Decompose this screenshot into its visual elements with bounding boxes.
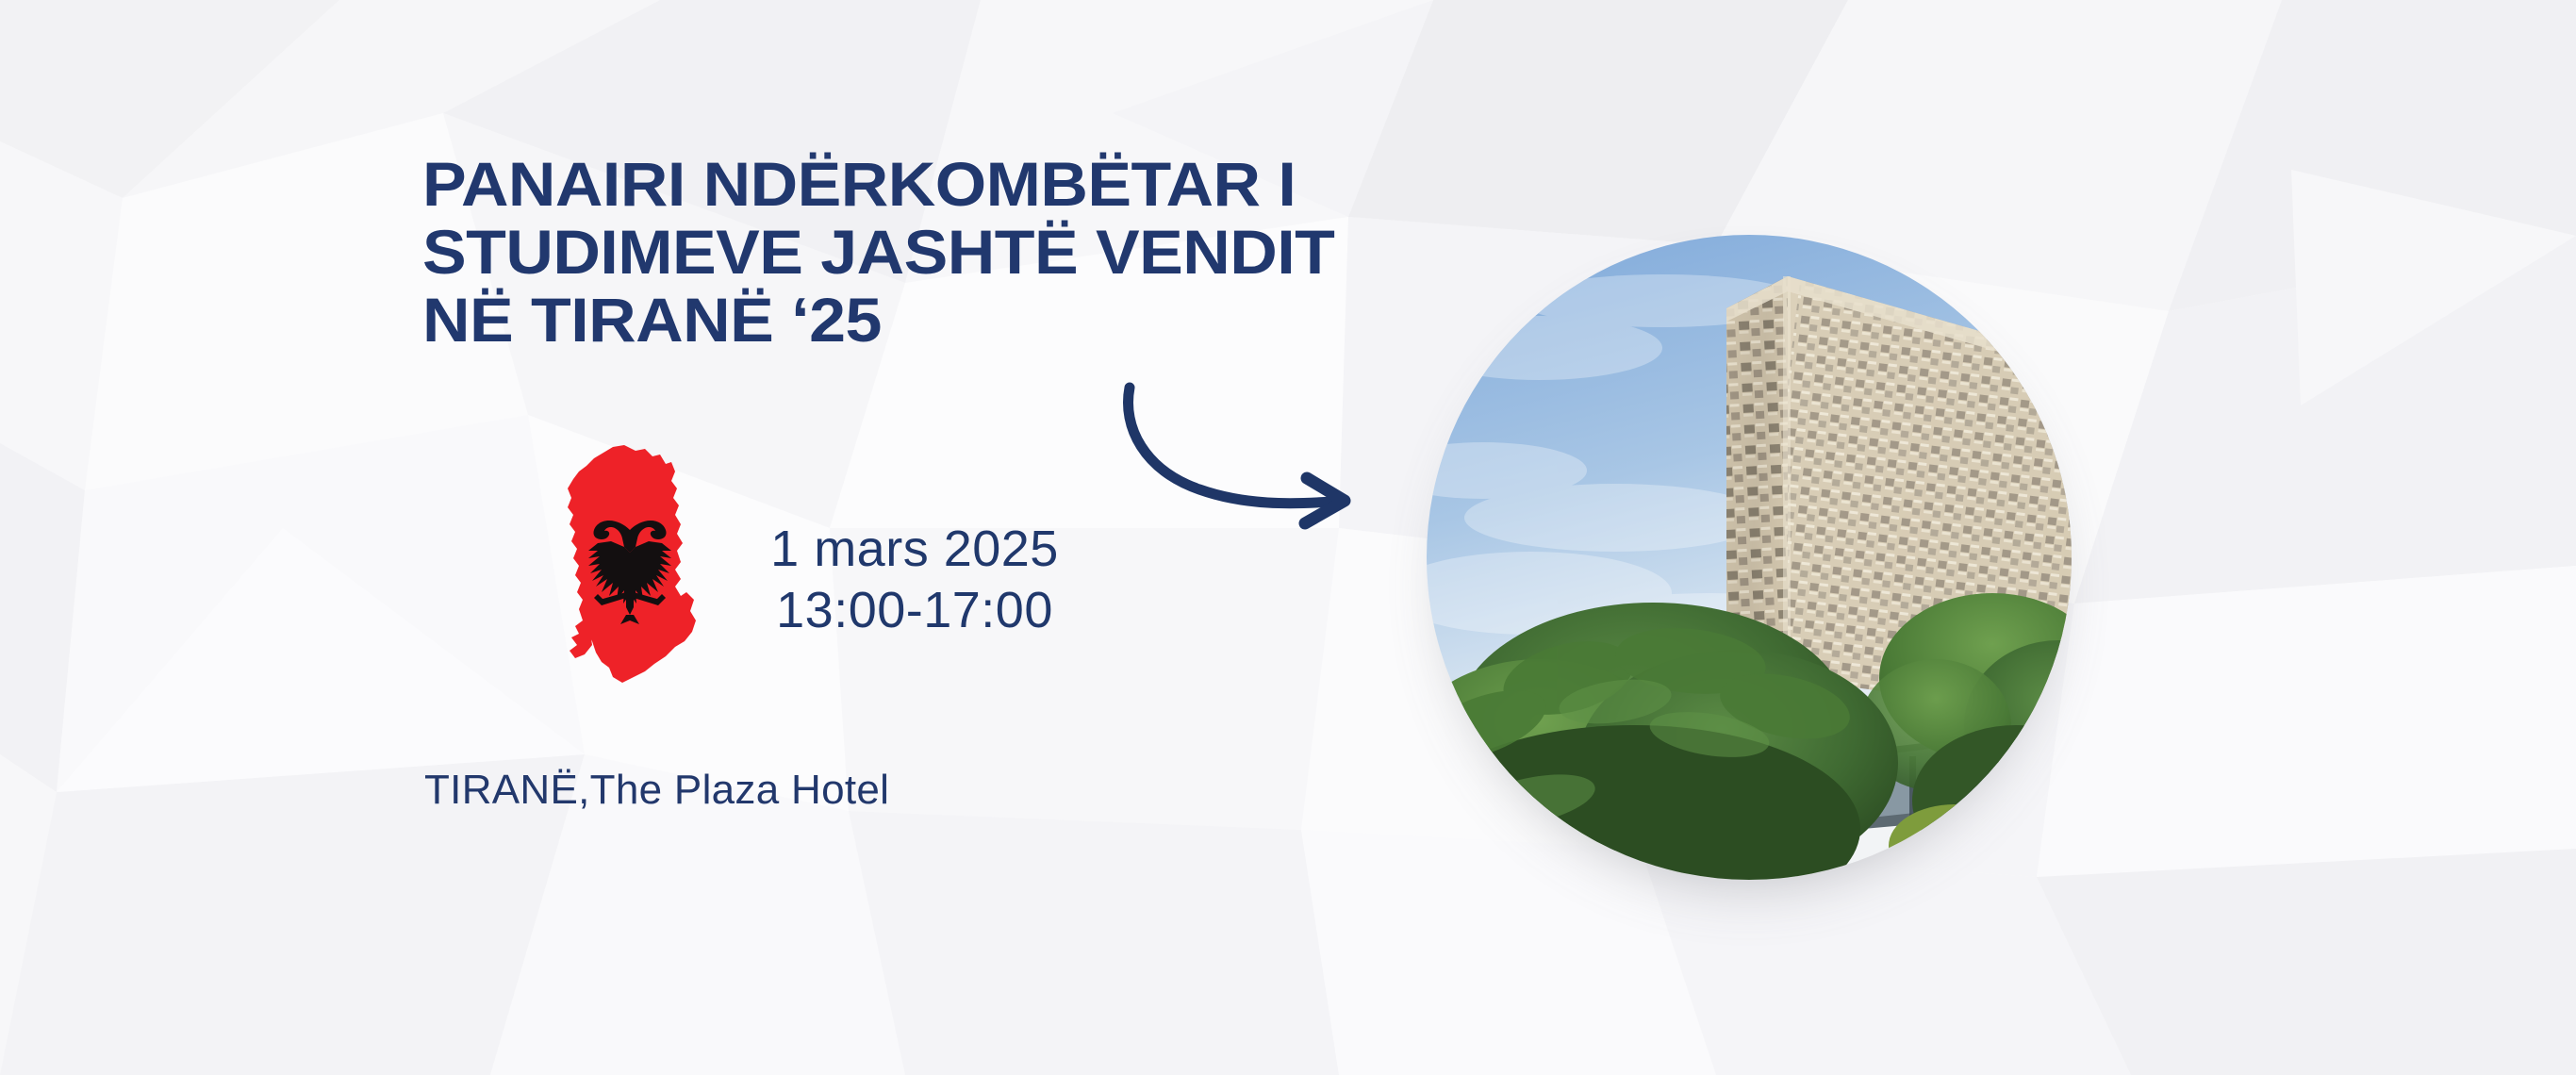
bush-accent xyxy=(1889,804,2068,880)
event-time: 13:00-17:00 xyxy=(717,580,1113,641)
albania-flag-map-icon xyxy=(554,445,705,685)
event-datetime: 1 mars 2025 13:00-17:00 xyxy=(717,519,1113,641)
event-date: 1 mars 2025 xyxy=(717,519,1113,580)
plaza-hotel-photo xyxy=(1427,235,2072,880)
event-banner: PANAIRI NDËRKOMBËTAR I STUDIMEVE JASHTË … xyxy=(0,0,2576,1075)
photo-container xyxy=(1427,235,2072,880)
headline-line-2: STUDIMEVE JASHTË VENDIT xyxy=(422,219,1542,287)
page-title: PANAIRI NDËRKOMBËTAR I STUDIMEVE JASHTË … xyxy=(422,151,1542,355)
curved-arrow-shaft xyxy=(1129,388,1331,504)
headline-line-1: PANAIRI NDËRKOMBËTAR I xyxy=(422,151,1542,219)
headline-line-3: NË TIRANË ‘25 xyxy=(422,287,1542,355)
event-venue: TIRANË,The Plaza Hotel xyxy=(424,767,889,814)
curved-arrow-icon xyxy=(1113,372,1377,528)
